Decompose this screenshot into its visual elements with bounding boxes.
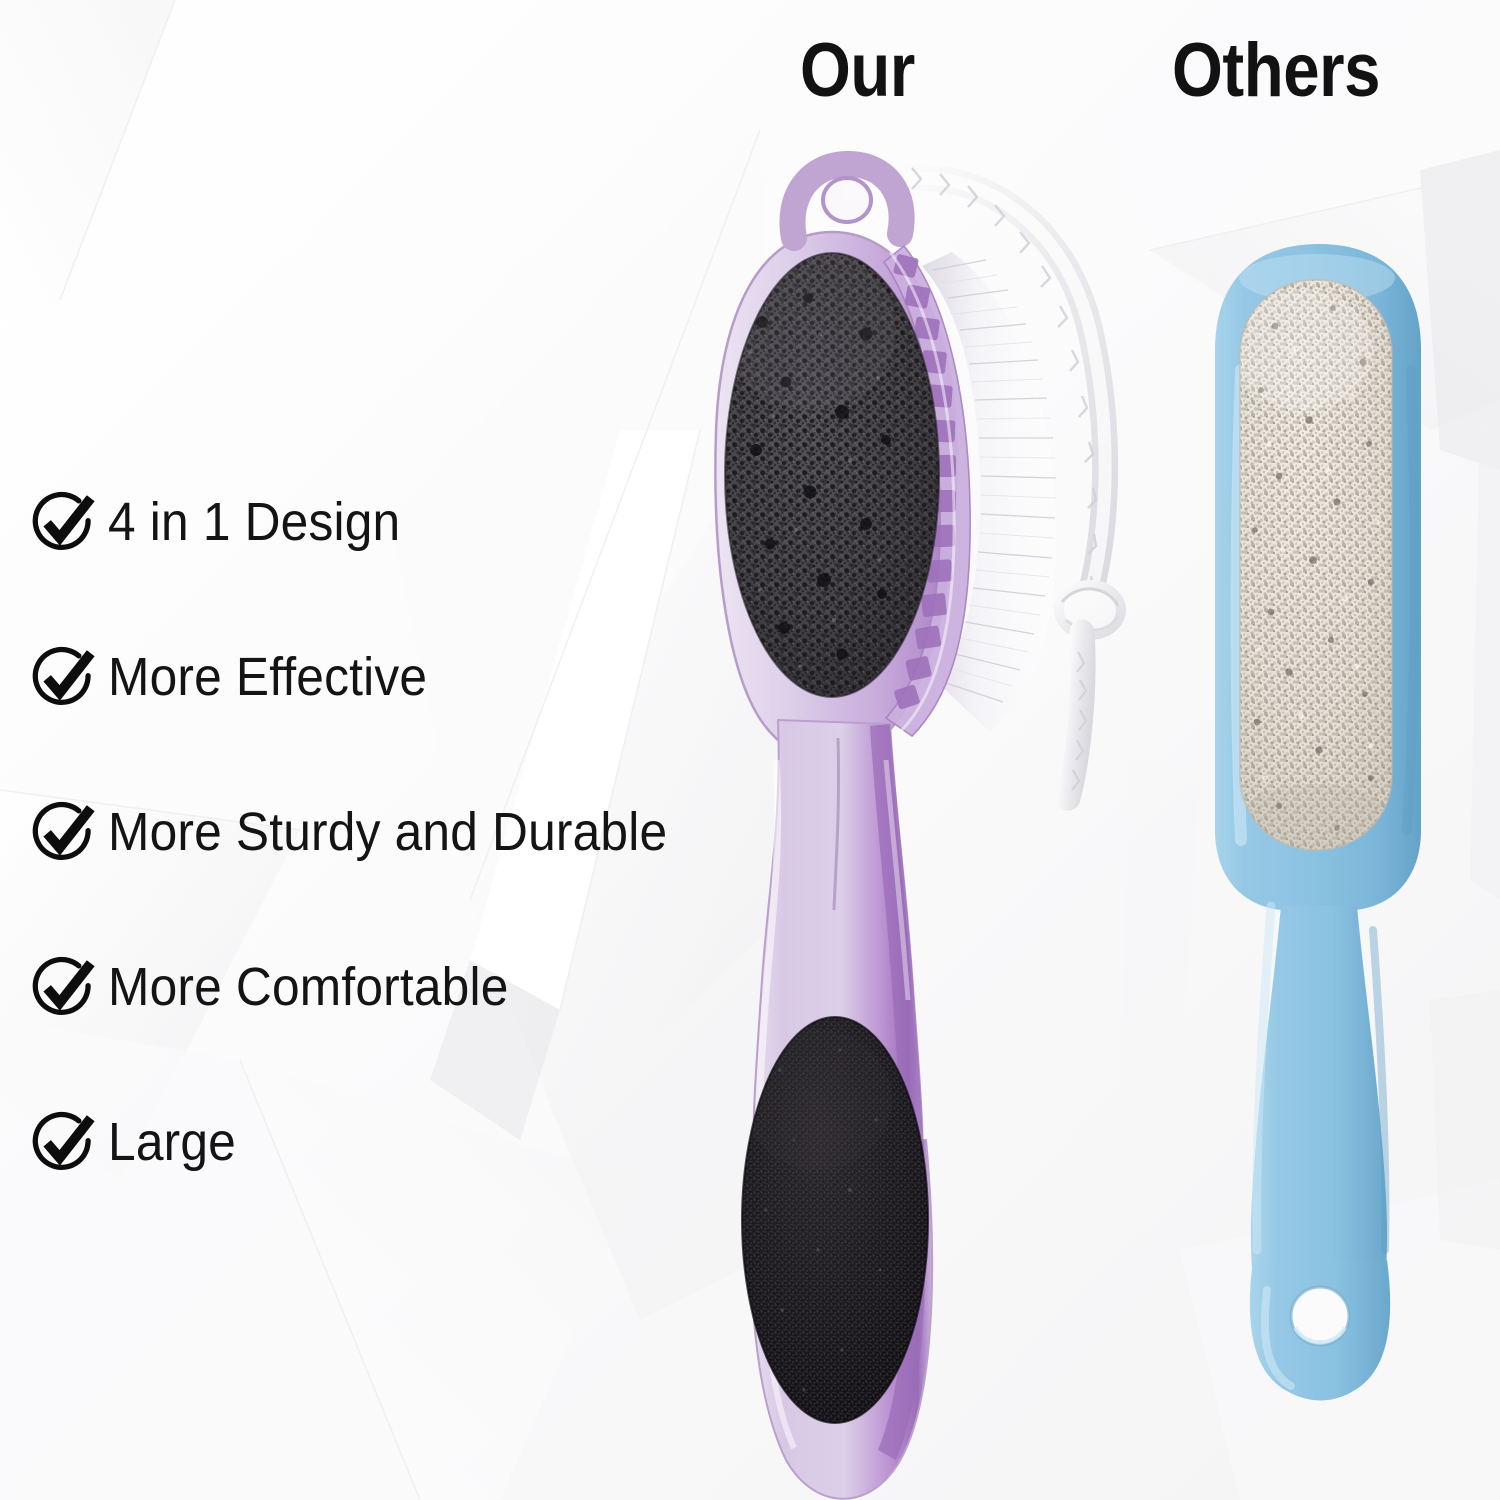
check-circle-icon <box>30 644 96 710</box>
pumice-stone-insert <box>1231 275 1406 876</box>
hang-hole <box>1291 1287 1349 1345</box>
feature-label: More Sturdy and Durable <box>108 805 667 859</box>
column-header-ours: Our <box>800 33 915 109</box>
check-circle-icon <box>30 799 96 865</box>
feature-label: 4 in 1 Design <box>108 495 400 549</box>
product-comparison-image: Our Others 4 in 1 Design More Effective … <box>0 0 1500 1500</box>
check-circle-icon <box>30 954 96 1020</box>
product-image-ours <box>690 120 1160 1500</box>
column-header-others: Others <box>1172 33 1380 109</box>
product-image-others <box>1185 230 1495 1410</box>
check-circle-icon <box>30 489 96 555</box>
feature-label: More Effective <box>108 650 427 704</box>
feature-label: More Comfortable <box>108 960 509 1014</box>
feature-label: Large <box>108 1115 236 1169</box>
check-circle-icon <box>30 1109 96 1175</box>
